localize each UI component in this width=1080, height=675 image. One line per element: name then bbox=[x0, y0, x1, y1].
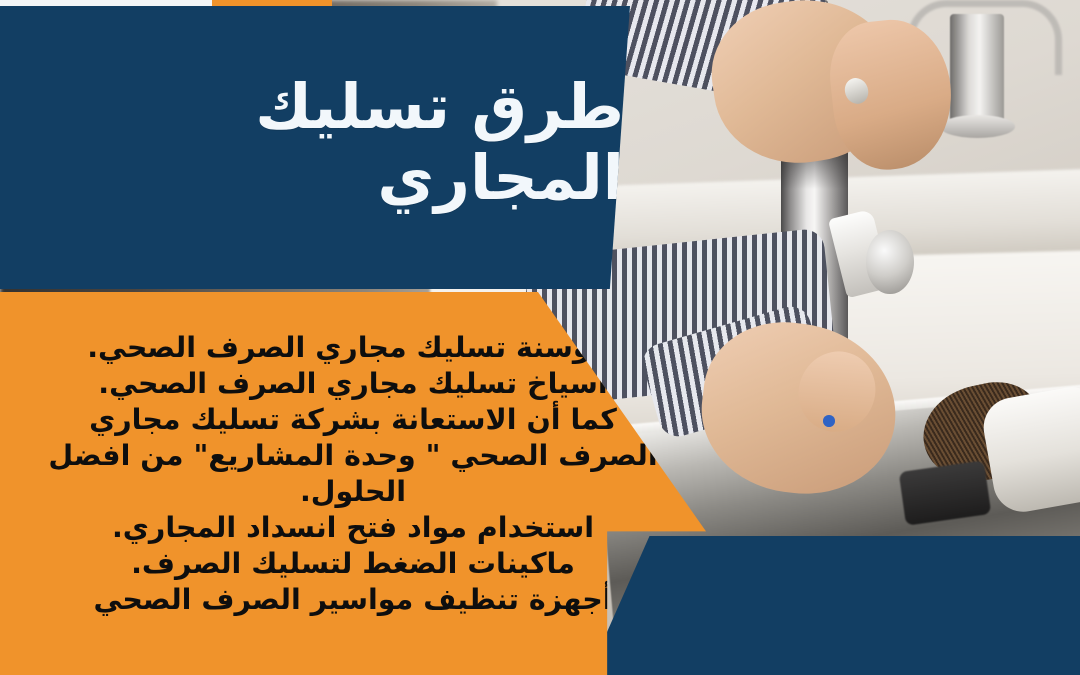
faucet-cap bbox=[866, 230, 914, 294]
secondary-tap bbox=[950, 14, 1004, 129]
bottom-right-navy-block bbox=[588, 536, 1080, 675]
top-orange-strip bbox=[212, 0, 332, 6]
title-banner: طرق تسليك المجاري bbox=[0, 6, 630, 289]
secondary-tap-base bbox=[940, 115, 1016, 138]
page-title: طرق تسليك المجاري bbox=[12, 72, 642, 223]
blue-marker-dot bbox=[823, 415, 835, 426]
brush-dark-fitting bbox=[898, 460, 991, 525]
top-white-strip bbox=[0, 0, 212, 6]
poster-canvas: طرق تسليك المجاري سوسنة تسليك مجاري الصر… bbox=[0, 0, 1080, 675]
